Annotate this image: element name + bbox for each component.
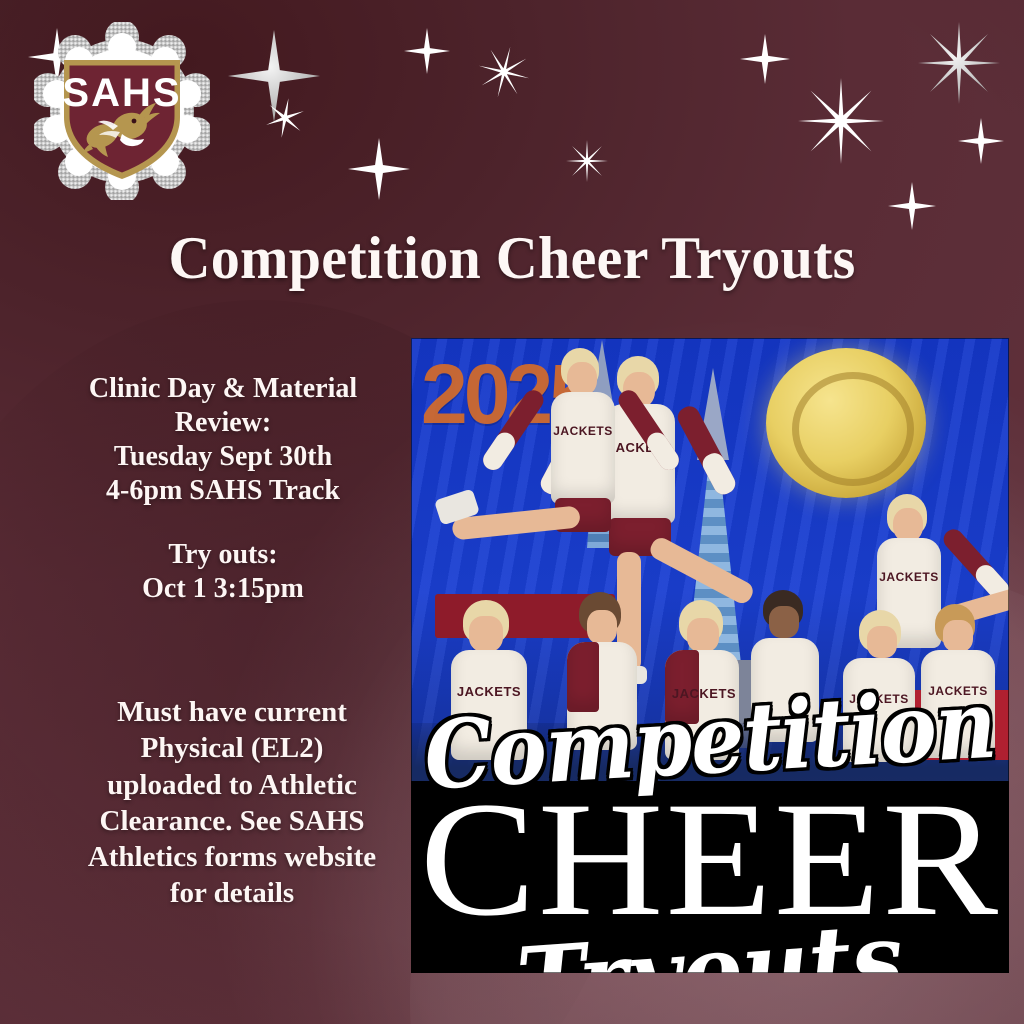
- requirement-line: Clearance. See SAHS: [28, 803, 436, 839]
- sparkle-8pt-i-icon: [918, 22, 1000, 104]
- sparkle-4pt-l-icon: [888, 182, 936, 230]
- requirement-line: Must have current: [28, 694, 436, 730]
- tryout-line: Oct 1 3:15pm: [28, 572, 418, 606]
- tryout-line: Try outs:: [28, 538, 418, 572]
- sparkle-6pt-c-icon: [262, 95, 308, 141]
- clinic-line: Clinic Day & Material: [28, 372, 418, 406]
- sparkle-8pt-g-icon: [566, 140, 608, 182]
- requirement-line: Physical (EL2): [28, 730, 436, 766]
- tryout-details: Try outs: Oct 1 3:15pm: [28, 538, 418, 606]
- shield-initials: SAHS: [62, 71, 181, 115]
- sparkle-4pt-k-icon: [958, 118, 1004, 164]
- clinic-line: Review:: [28, 406, 418, 440]
- clinic-details: Clinic Day & Material Review: Tuesday Se…: [28, 372, 418, 509]
- sahs-seal-logo: SAHS: [34, 22, 210, 200]
- cheer-tryouts-flyer: SAHS Competition Cheer Tryouts Clinic Da…: [0, 0, 1024, 1024]
- sparkle-8pt-j-icon: [798, 78, 884, 164]
- page-title: Competition Cheer Tryouts: [15, 224, 1008, 293]
- requirement-line: Athletics forms website: [28, 839, 436, 875]
- sparkle-4pt-d-icon: [404, 28, 450, 74]
- requirement-line: for details: [28, 875, 436, 911]
- requirement-line: uploaded to Athletic: [28, 767, 436, 803]
- clinic-line: 4-6pm SAHS Track: [28, 474, 418, 508]
- clinic-line: Tuesday Sept 30th: [28, 440, 418, 474]
- photo-border: [411, 338, 1009, 973]
- sparkle-4pt-f-icon: [348, 138, 410, 200]
- sparkle-4pt-h-icon: [740, 34, 790, 84]
- requirements-note: Must have current Physical (EL2) uploade…: [28, 694, 436, 912]
- cheer-team-photo: 2025 JACKETS: [411, 338, 1009, 973]
